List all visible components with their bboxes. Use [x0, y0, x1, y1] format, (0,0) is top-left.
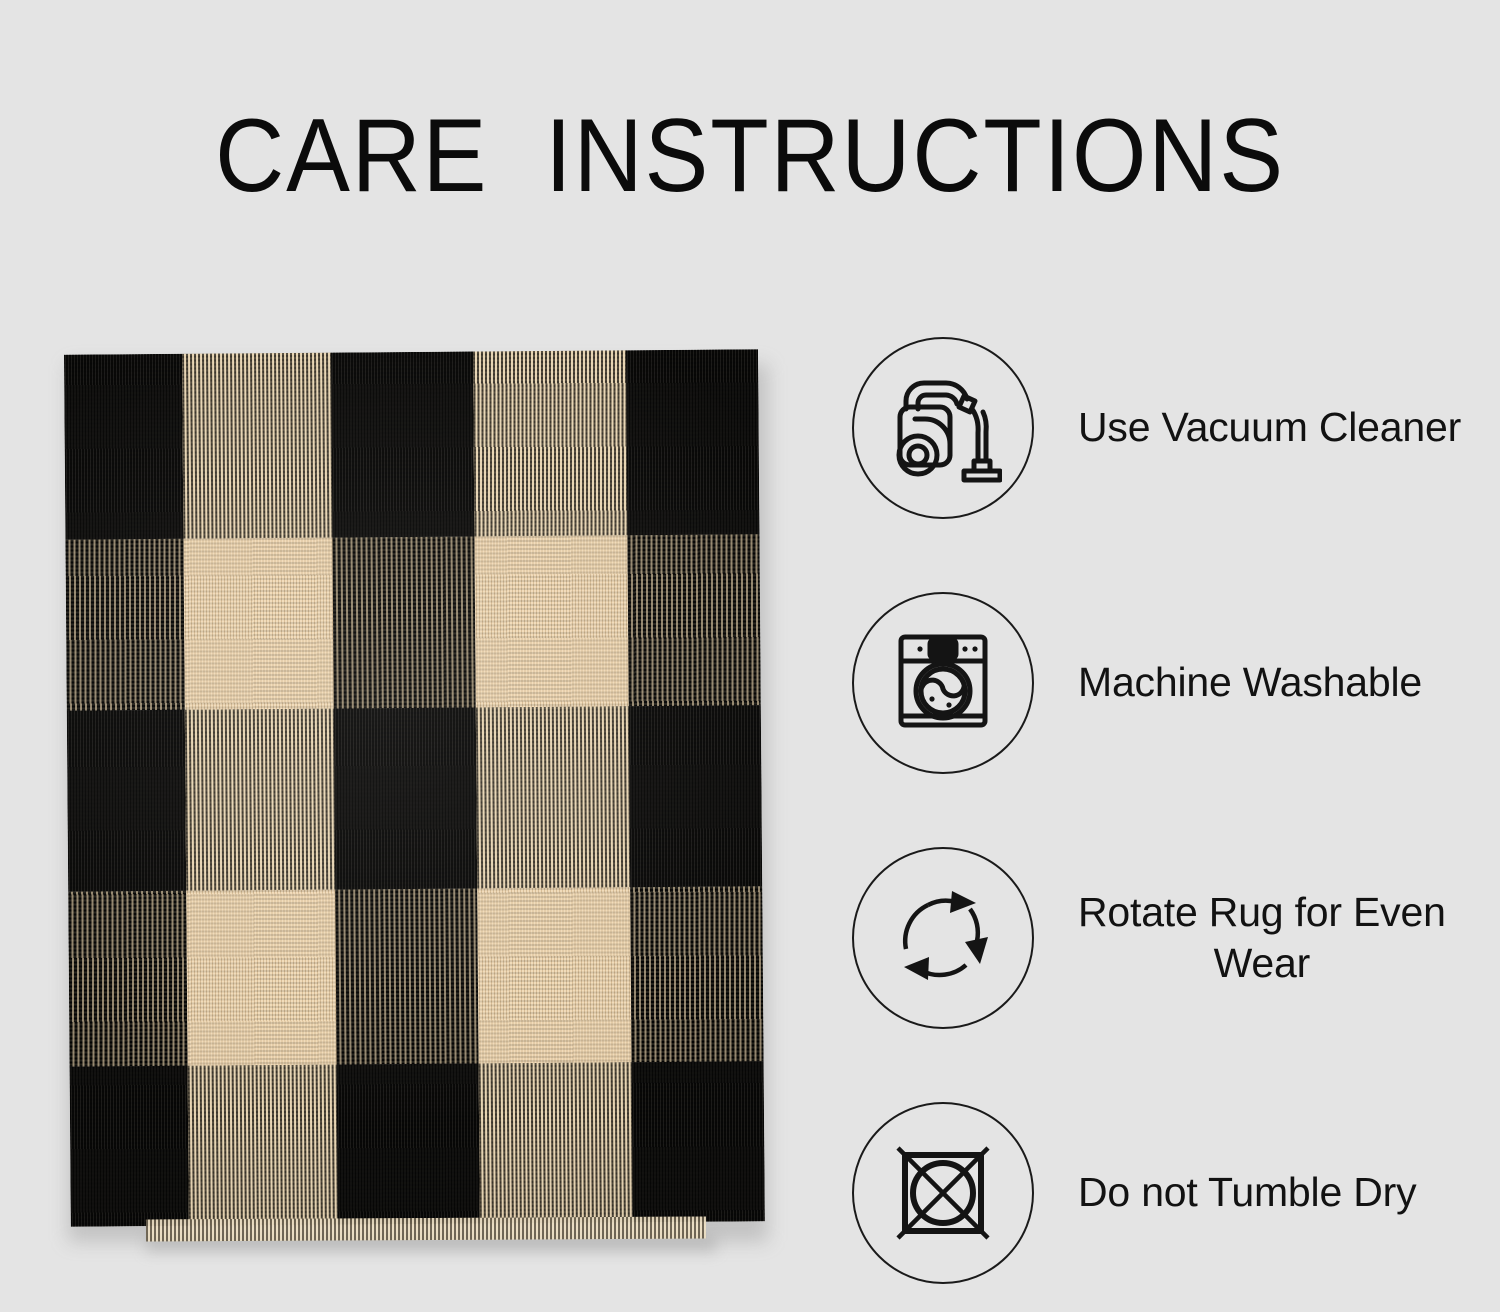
plaid-cell [629, 705, 762, 887]
plaid-cell [70, 1065, 189, 1226]
instruction-label-vacuum: Use Vacuum Cleaner [1078, 402, 1461, 452]
plaid-cell [335, 889, 479, 1065]
instruction-item-no-tumble-dry: Do not Tumble Dry [852, 1065, 1492, 1312]
plaid-cell [64, 354, 183, 540]
plaid-cell [68, 891, 187, 1066]
plaid-cell [183, 537, 334, 709]
washing-machine-icon [852, 592, 1034, 774]
plaid-cell [337, 1063, 481, 1225]
plaid-cell [630, 886, 763, 1061]
plaid-cell [476, 706, 630, 889]
instruction-label-machine-wash: Machine Washable [1078, 657, 1422, 707]
plaid-cell [334, 707, 478, 889]
plaid-cell [628, 534, 761, 706]
do-not-tumble-dry-icon [852, 1102, 1034, 1284]
plaid-cell [333, 536, 477, 708]
rug-textile [64, 349, 765, 1226]
instruction-item-machine-wash: Machine Washable [852, 555, 1492, 810]
plaid-cell [632, 1061, 765, 1222]
plaid-cell [65, 539, 184, 711]
rug-folded-edge [146, 1217, 706, 1242]
plaid-cell [188, 1064, 338, 1226]
rug-product-image [58, 352, 768, 1242]
page-title: CARE INSTRUCTIONS [60, 104, 1440, 208]
plaid-cell [331, 352, 475, 538]
plaid-cell [478, 887, 632, 1063]
plaid-cell [473, 350, 627, 536]
plaid-cell [182, 353, 333, 539]
rug-plaid-grid [64, 349, 765, 1226]
vacuum-cleaner-icon [852, 337, 1034, 519]
plaid-cell [67, 710, 186, 892]
plaid-cell [475, 535, 629, 707]
rotate-arrows-icon [852, 847, 1034, 1029]
care-instructions-infographic: CARE INSTRUCTIONS [0, 0, 1500, 1312]
plaid-cell [186, 890, 337, 1066]
plaid-cell [626, 349, 759, 535]
instruction-list: Use Vacuum Cleaner [852, 300, 1492, 1312]
plaid-cell [479, 1062, 633, 1224]
plaid-cell [185, 708, 336, 891]
instruction-item-vacuum: Use Vacuum Cleaner [852, 300, 1492, 555]
instruction-label-rotate: Rotate Rug for EvenWear [1078, 887, 1446, 987]
instruction-item-rotate: Rotate Rug for EvenWear [852, 810, 1492, 1065]
instruction-label-no-tumble-dry: Do not Tumble Dry [1078, 1167, 1416, 1217]
